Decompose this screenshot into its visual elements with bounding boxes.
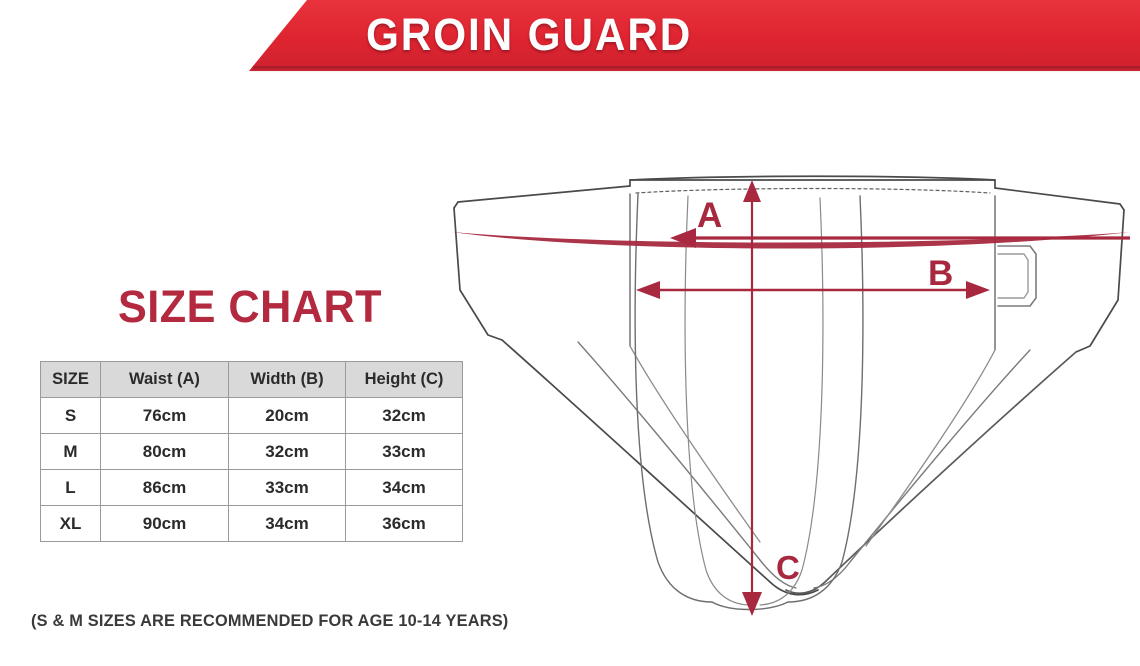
table-row: XL 90cm 34cm 36cm	[41, 506, 463, 542]
cell-width: 32cm	[229, 434, 346, 470]
cell-size: XL	[41, 506, 101, 542]
cell-waist: 90cm	[101, 506, 229, 542]
measurement-label-c: C	[776, 551, 800, 584]
page-title: GROIN GUARD	[366, 4, 692, 66]
cell-width: 34cm	[229, 506, 346, 542]
size-chart-heading: SIZE CHART	[118, 281, 382, 333]
column-header-size: SIZE	[41, 362, 101, 398]
cell-waist: 80cm	[101, 434, 229, 470]
cell-width: 33cm	[229, 470, 346, 506]
table-row: L 86cm 33cm 34cm	[41, 470, 463, 506]
measurement-label-b: B	[928, 256, 953, 291]
table-row: S 76cm 20cm 32cm	[41, 398, 463, 434]
table-row: M 80cm 32cm 33cm	[41, 434, 463, 470]
cell-size: S	[41, 398, 101, 434]
header-banner-shadow	[0, 66, 1140, 73]
cell-size: M	[41, 434, 101, 470]
measurement-label-a: A	[697, 198, 722, 233]
cell-waist: 76cm	[101, 398, 229, 434]
cell-width: 20cm	[229, 398, 346, 434]
table-header-row: SIZE Waist (A) Width (B) Height (C)	[41, 362, 463, 398]
size-chart-page: GROIN GUARD SIZE CHART SIZE Waist (A) Wi…	[0, 0, 1140, 666]
column-header-width: Width (B)	[229, 362, 346, 398]
size-table: SIZE Waist (A) Width (B) Height (C) S 76…	[40, 361, 463, 542]
column-header-waist: Waist (A)	[101, 362, 229, 398]
cell-waist: 86cm	[101, 470, 229, 506]
cell-size: L	[41, 470, 101, 506]
